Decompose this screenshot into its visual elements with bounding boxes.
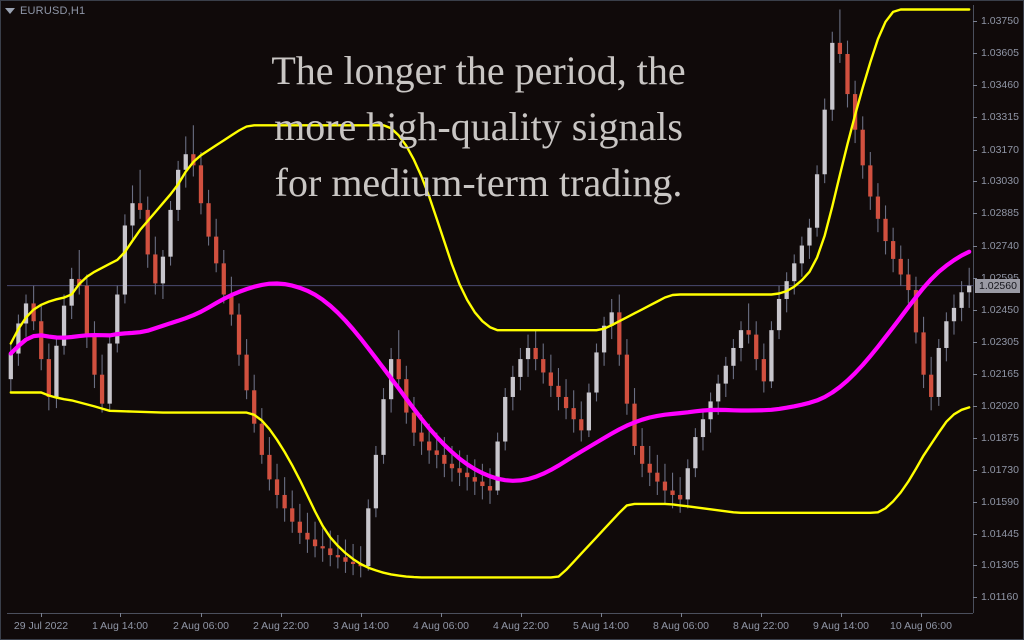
candle-body — [153, 254, 157, 283]
time-tick — [281, 613, 282, 617]
candle-body — [442, 455, 446, 464]
price-axis-label: 1.03030 — [981, 175, 1019, 187]
price-tick — [973, 374, 977, 375]
time-tick — [841, 613, 842, 617]
candle-body — [275, 479, 279, 495]
candle-body — [54, 346, 58, 397]
chart-plot-area[interactable] — [7, 5, 973, 613]
candle-body — [305, 533, 309, 540]
candle-body — [944, 321, 948, 348]
candle-body — [868, 165, 872, 196]
candle-body — [397, 359, 401, 379]
upper-band-line — [11, 10, 969, 344]
price-tick — [973, 150, 977, 151]
candle-body — [168, 210, 172, 257]
price-tick — [973, 534, 977, 535]
symbol-label: EURUSD,H1 — [20, 5, 85, 17]
price-axis-label: 1.01730 — [981, 464, 1019, 476]
candle-body — [298, 522, 302, 533]
candle-body — [473, 477, 477, 481]
candle-body — [625, 355, 629, 404]
price-tick — [973, 181, 977, 182]
current-price-badge: 1.02560 — [975, 279, 1020, 293]
candle-body — [754, 335, 758, 359]
time-tick — [201, 613, 202, 617]
candle-body — [419, 433, 423, 442]
candle-body — [336, 555, 340, 557]
candle-body — [731, 348, 735, 366]
price-tick — [973, 213, 977, 214]
candle-body — [343, 557, 347, 561]
price-tick — [973, 310, 977, 311]
candle-body — [161, 257, 165, 284]
candle-body — [222, 263, 226, 294]
candle-body — [237, 315, 241, 355]
time-axis-label: 1 Aug 14:00 — [92, 620, 148, 632]
candle-body — [503, 397, 507, 442]
price-tick — [973, 470, 977, 471]
time-tick — [521, 613, 522, 617]
price-tick — [973, 438, 977, 439]
time-axis[interactable]: 29 Jul 20221 Aug 14:002 Aug 06:002 Aug 2… — [1, 613, 1024, 640]
candle-body — [146, 210, 150, 255]
candle-body — [206, 203, 210, 236]
candle-body — [199, 165, 203, 203]
candle-body — [457, 468, 461, 472]
candle-body — [815, 174, 819, 227]
price-tick — [973, 597, 977, 598]
candle-body — [777, 299, 781, 330]
price-axis-label: 1.02450 — [981, 304, 1019, 316]
time-tick — [921, 613, 922, 617]
price-axis-label: 1.01875 — [981, 432, 1019, 444]
time-tick — [761, 613, 762, 617]
price-tick — [973, 246, 977, 247]
mt-chart-window: EURUSD,H1 The longer the period, the mor… — [0, 0, 1024, 640]
chevron-down-icon[interactable] — [5, 8, 15, 14]
price-axis-label: 1.03750 — [981, 15, 1019, 27]
price-axis-label: 1.01590 — [981, 496, 1019, 508]
time-axis-label: 5 Aug 14:00 — [573, 620, 629, 632]
price-tick — [973, 406, 977, 407]
price-axis-label: 1.01160 — [981, 591, 1018, 603]
candle-body — [283, 495, 287, 508]
candle-body — [100, 375, 104, 404]
candle-body — [663, 482, 667, 491]
candle-body — [883, 219, 887, 241]
candle-body — [556, 386, 560, 397]
price-axis-label: 1.03315 — [981, 111, 1019, 123]
time-axis-label: 2 Aug 22:00 — [253, 620, 309, 632]
candle-body — [823, 110, 827, 175]
candle-body — [594, 352, 598, 392]
candle-body — [655, 473, 659, 482]
time-axis-label: 29 Jul 2022 — [14, 620, 68, 632]
candle-body — [716, 384, 720, 402]
time-axis-line — [7, 613, 973, 614]
candle-body — [746, 330, 750, 334]
candle-body — [678, 495, 682, 499]
time-axis-label: 8 Aug 06:00 — [653, 620, 709, 632]
candle-body — [328, 548, 332, 555]
price-tick — [973, 565, 977, 566]
price-axis-label: 1.02885 — [981, 207, 1019, 219]
candle-body — [427, 442, 431, 451]
candle-body — [465, 473, 469, 477]
time-tick — [41, 613, 42, 617]
price-tick — [973, 502, 977, 503]
candle-body — [267, 455, 271, 479]
price-tick — [973, 85, 977, 86]
candle-body — [952, 308, 956, 321]
time-axis-label: 2 Aug 06:00 — [173, 620, 229, 632]
symbol-bar: EURUSD,H1 — [5, 4, 85, 18]
price-axis[interactable]: 1.037501.036051.034601.033151.031701.030… — [973, 5, 1024, 613]
price-tick — [973, 53, 977, 54]
candle-body — [351, 562, 355, 564]
candle-body — [617, 312, 621, 354]
candle-body — [579, 419, 583, 430]
candle-body — [176, 170, 180, 210]
candle-body — [807, 228, 811, 246]
candle-body — [85, 286, 89, 335]
price-axis-label: 1.02165 — [981, 368, 1019, 380]
time-tick — [681, 613, 682, 617]
candle-body — [290, 508, 294, 521]
price-axis-label: 1.01305 — [981, 559, 1019, 571]
candle-body — [518, 359, 522, 377]
candle-body — [381, 399, 385, 455]
time-axis-label: 8 Aug 22:00 — [733, 620, 789, 632]
candle-body — [108, 344, 112, 404]
price-tick — [973, 21, 977, 22]
candle-body — [762, 359, 766, 381]
time-axis-label: 4 Aug 06:00 — [413, 620, 469, 632]
candle-body — [526, 348, 530, 359]
price-axis-label: 1.01445 — [981, 528, 1019, 540]
candle-body — [845, 54, 849, 94]
time-tick — [441, 613, 442, 617]
candle-body — [214, 237, 218, 264]
candle-body — [899, 259, 903, 275]
candle-body — [587, 393, 591, 431]
candle-body — [130, 203, 134, 225]
candle-body — [739, 330, 743, 348]
candle-body — [640, 446, 644, 464]
price-tick — [973, 342, 977, 343]
time-axis-label: 9 Aug 14:00 — [813, 620, 869, 632]
candle-body — [800, 246, 804, 264]
candle-body — [549, 372, 553, 385]
candle-body — [830, 43, 834, 110]
candle-body — [412, 413, 416, 433]
candle-body — [138, 203, 142, 210]
candle-body — [876, 197, 880, 219]
candle-group — [9, 9, 972, 577]
candle-body — [929, 375, 933, 397]
candle-body — [123, 225, 127, 294]
candle-body — [488, 486, 492, 490]
candle-body — [366, 508, 370, 566]
candle-body — [321, 546, 325, 548]
candle-body — [937, 348, 941, 397]
candle-body — [906, 274, 910, 290]
candle-body — [480, 482, 484, 486]
candle-body — [792, 263, 796, 281]
price-axis-line — [973, 5, 974, 613]
candle-body — [648, 464, 652, 473]
candle-body — [701, 419, 705, 437]
time-tick — [361, 613, 362, 617]
price-axis-label: 1.03170 — [981, 144, 1019, 156]
time-axis-label: 10 Aug 06:00 — [890, 620, 952, 632]
candle-body — [921, 332, 925, 374]
candle-body — [313, 540, 317, 547]
candle-body — [838, 43, 842, 54]
time-axis-label: 3 Aug 14:00 — [333, 620, 389, 632]
time-axis-label: 4 Aug 22:00 — [493, 620, 549, 632]
candle-body — [861, 130, 865, 166]
candle-body — [184, 154, 188, 170]
candle-body — [47, 359, 51, 397]
candle-body — [435, 450, 439, 454]
price-axis-label: 1.02305 — [981, 336, 1019, 348]
candle-body — [450, 464, 454, 468]
candle-body — [670, 491, 674, 495]
candle-body — [724, 366, 728, 384]
candlestick-chart — [7, 5, 973, 613]
candle-body — [959, 292, 963, 308]
candle-body — [374, 455, 378, 508]
candle-body — [495, 442, 499, 491]
candle-body — [572, 408, 576, 419]
candle-body — [686, 468, 690, 499]
candle-body — [693, 437, 697, 468]
candle-body — [541, 359, 545, 372]
time-tick — [601, 613, 602, 617]
candle-body — [564, 397, 568, 408]
candle-body — [891, 241, 895, 259]
price-axis-label: 1.02020 — [981, 400, 1019, 412]
candle-body — [511, 377, 515, 397]
candle-body — [9, 354, 13, 380]
candle-body — [39, 321, 43, 359]
candle-body — [244, 355, 248, 391]
price-axis-label: 1.03605 — [981, 47, 1019, 59]
candle-body — [967, 286, 971, 293]
candle-body — [260, 424, 264, 455]
candle-body — [92, 335, 96, 375]
price-tick — [973, 117, 977, 118]
candle-body — [769, 330, 773, 381]
candle-body — [534, 348, 538, 359]
price-axis-label: 1.03460 — [981, 79, 1019, 91]
candle-body — [252, 390, 256, 423]
time-tick — [120, 613, 121, 617]
price-axis-label: 1.02740 — [981, 240, 1019, 252]
